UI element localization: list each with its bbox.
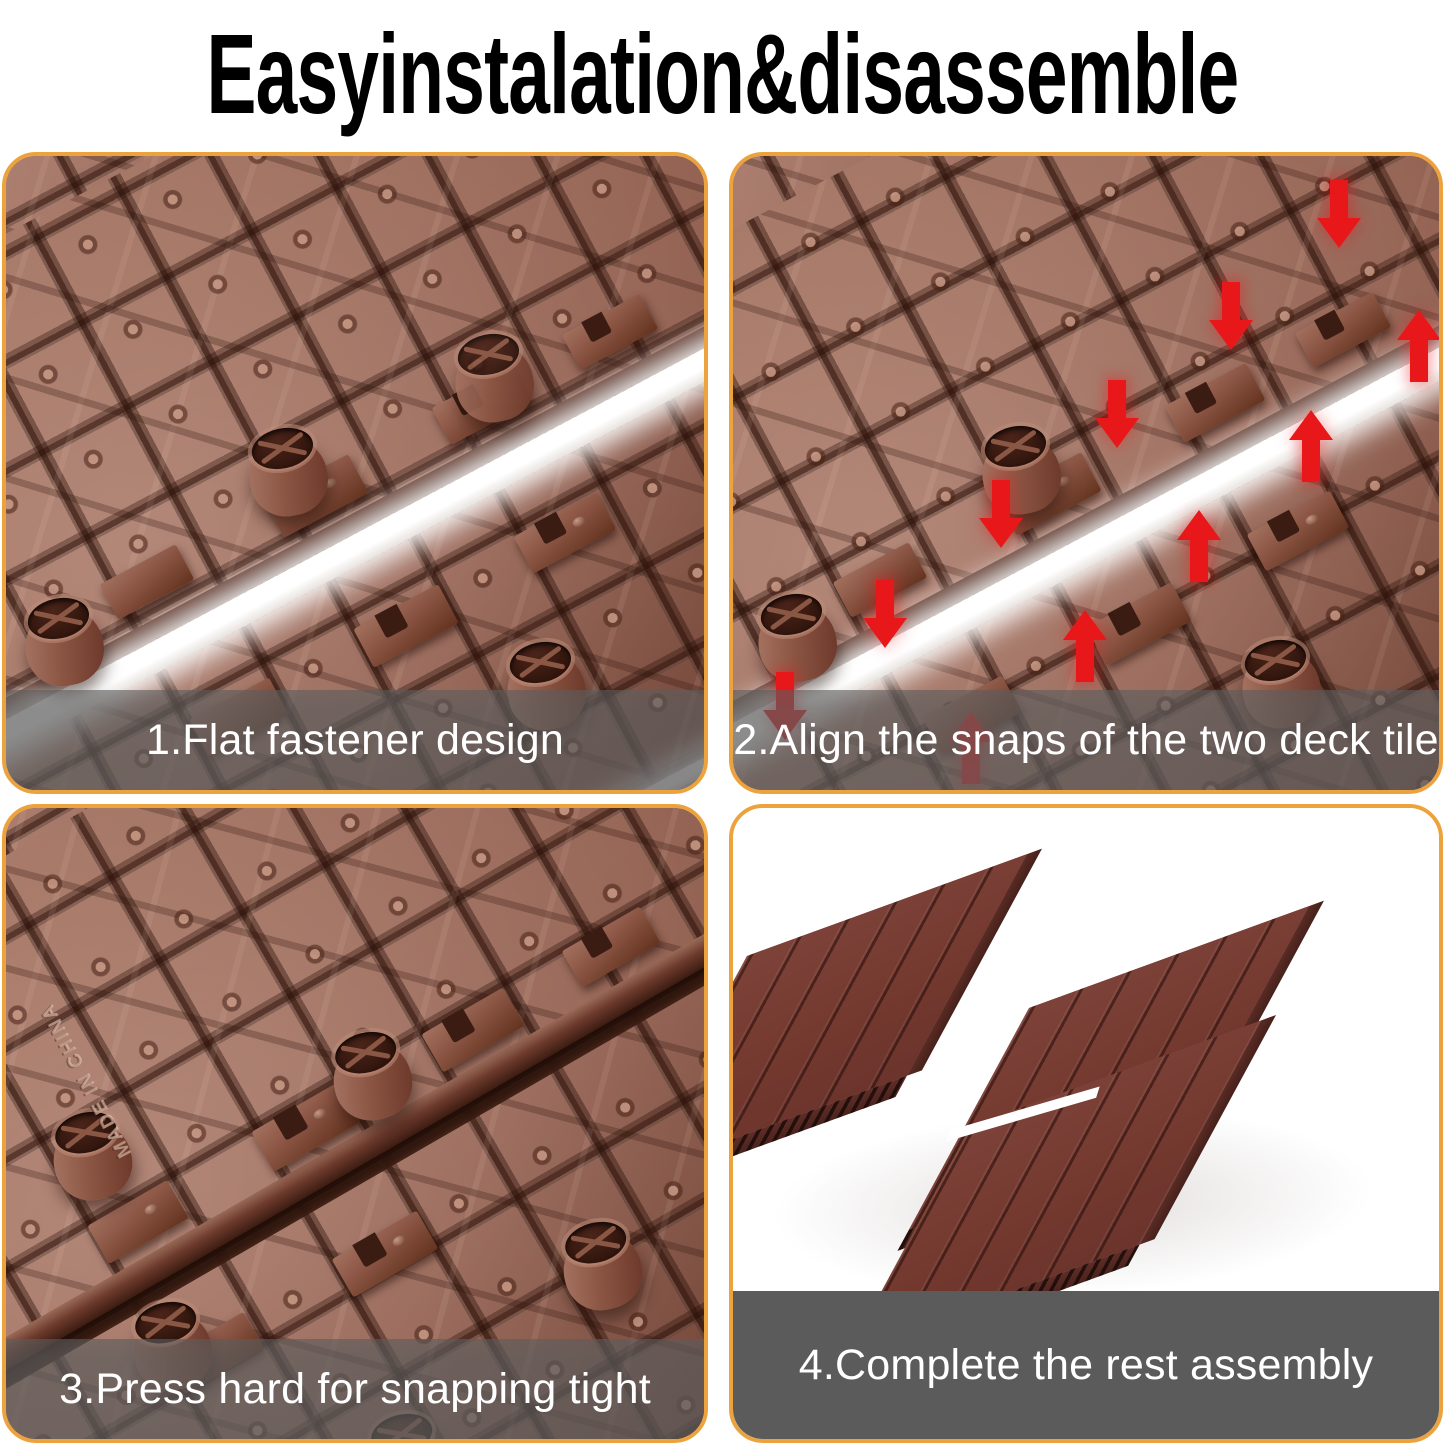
- header-bar: Easyinstalation&disassemble: [0, 0, 1445, 150]
- step-panel-3[interactable]: MADE IN CHINA 3.Press hard for snapping …: [2, 804, 708, 1443]
- step-2-caption-text: 2.Align the snaps of the two deck tile: [733, 716, 1439, 765]
- page-title: Easyinstalation&disassemble: [207, 18, 1239, 131]
- step-3-caption: 3.Press hard for snapping tight: [6, 1339, 704, 1439]
- step-3-caption-text: 3.Press hard for snapping tight: [59, 1365, 651, 1414]
- steps-grid: 1.Flat fastener design: [0, 152, 1445, 1445]
- step-4-caption-text: 4.Complete the rest assembly: [799, 1341, 1373, 1390]
- step-panel-2[interactable]: 2.Align the snaps of the two deck tile: [729, 152, 1443, 794]
- step-panel-4[interactable]: 4.Complete the rest assembly: [729, 804, 1443, 1443]
- step-4-caption: 4.Complete the rest assembly: [733, 1291, 1439, 1439]
- step-1-caption: 1.Flat fastener design: [6, 690, 704, 790]
- step-2-caption: 2.Align the snaps of the two deck tile: [733, 690, 1439, 790]
- step-1-caption-text: 1.Flat fastener design: [146, 716, 564, 765]
- step-panel-1[interactable]: 1.Flat fastener design: [2, 152, 708, 794]
